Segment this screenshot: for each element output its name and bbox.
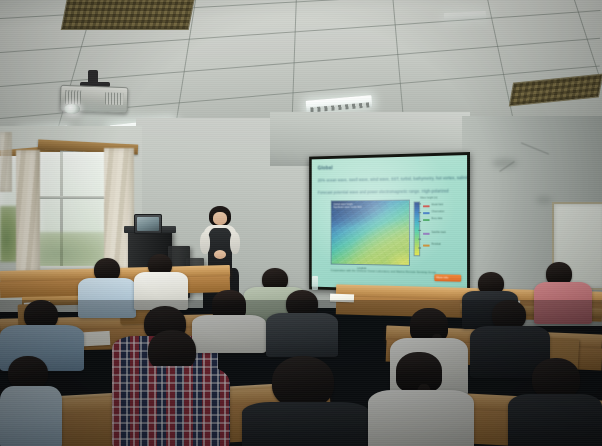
projector-lens-icon: [64, 104, 80, 114]
slide-badge-label: More info: [436, 275, 448, 279]
chart-contours: [332, 201, 409, 265]
student-foreground-center: [242, 356, 370, 446]
projection-screen[interactable]: Global 20% ocean wave, swell wave, wind …: [309, 152, 470, 294]
chart-legend-entry-5: Residual: [431, 243, 440, 246]
window-mullion-horizontal: [38, 196, 108, 199]
water-bottle[interactable]: [312, 276, 318, 290]
chart-legend-entry-1: Model field: [431, 203, 443, 206]
air-vent-right-icon: [509, 73, 602, 106]
student-white-shirt: [134, 254, 190, 310]
slide-citation: Cooperation with the Chinese Ocean Labor…: [331, 268, 436, 274]
presenter-sleeve-left: [200, 232, 210, 254]
slide-bullet-2: Forecast potential wave and power electr…: [318, 188, 449, 195]
chart-subtitle: Significant wave model field: [333, 206, 361, 209]
student-foreground-far-right: [508, 358, 602, 446]
slide-bullet-1: 20% ocean wave, swell wave, wind wave, S…: [318, 173, 467, 183]
slide-badge[interactable]: More info: [434, 274, 461, 282]
presenter-hands: [214, 250, 226, 259]
chart-plot-area: Global wave height Significant wave mode…: [331, 200, 410, 266]
fluorescent-fixture-1-icon: [306, 95, 373, 113]
curtain-far-left[interactable]: [0, 132, 12, 192]
computer-monitor-icon[interactable]: [134, 214, 162, 234]
air-vent-left-icon: [61, 0, 196, 30]
student-edge-left: [0, 356, 62, 446]
presenter-face: [213, 212, 227, 225]
slide-title: Global: [318, 165, 333, 171]
slide-chart: Global wave height Significant wave mode…: [331, 200, 410, 266]
chart-legend-entry-2: Observation: [431, 210, 444, 213]
curtain-left[interactable]: [16, 150, 40, 282]
classroom-scene: Global 20% ocean wave, swell wave, wind …: [0, 0, 602, 446]
fluorescent-fixture-4-icon: [444, 11, 486, 21]
slide: Global 20% ocean wave, swell wave, wind …: [312, 155, 467, 291]
chart-colorbar-label: Wave height (m): [420, 196, 437, 199]
presenter-sleeve-right: [230, 232, 240, 254]
chart-legend-entry-3: Buoy data: [431, 217, 442, 220]
student-foreground-left: [112, 330, 230, 446]
student-dark-tshirt: [266, 290, 338, 356]
chart-legend-entry-4: Satellite track: [431, 231, 445, 234]
student-foreground-right: [368, 352, 474, 446]
